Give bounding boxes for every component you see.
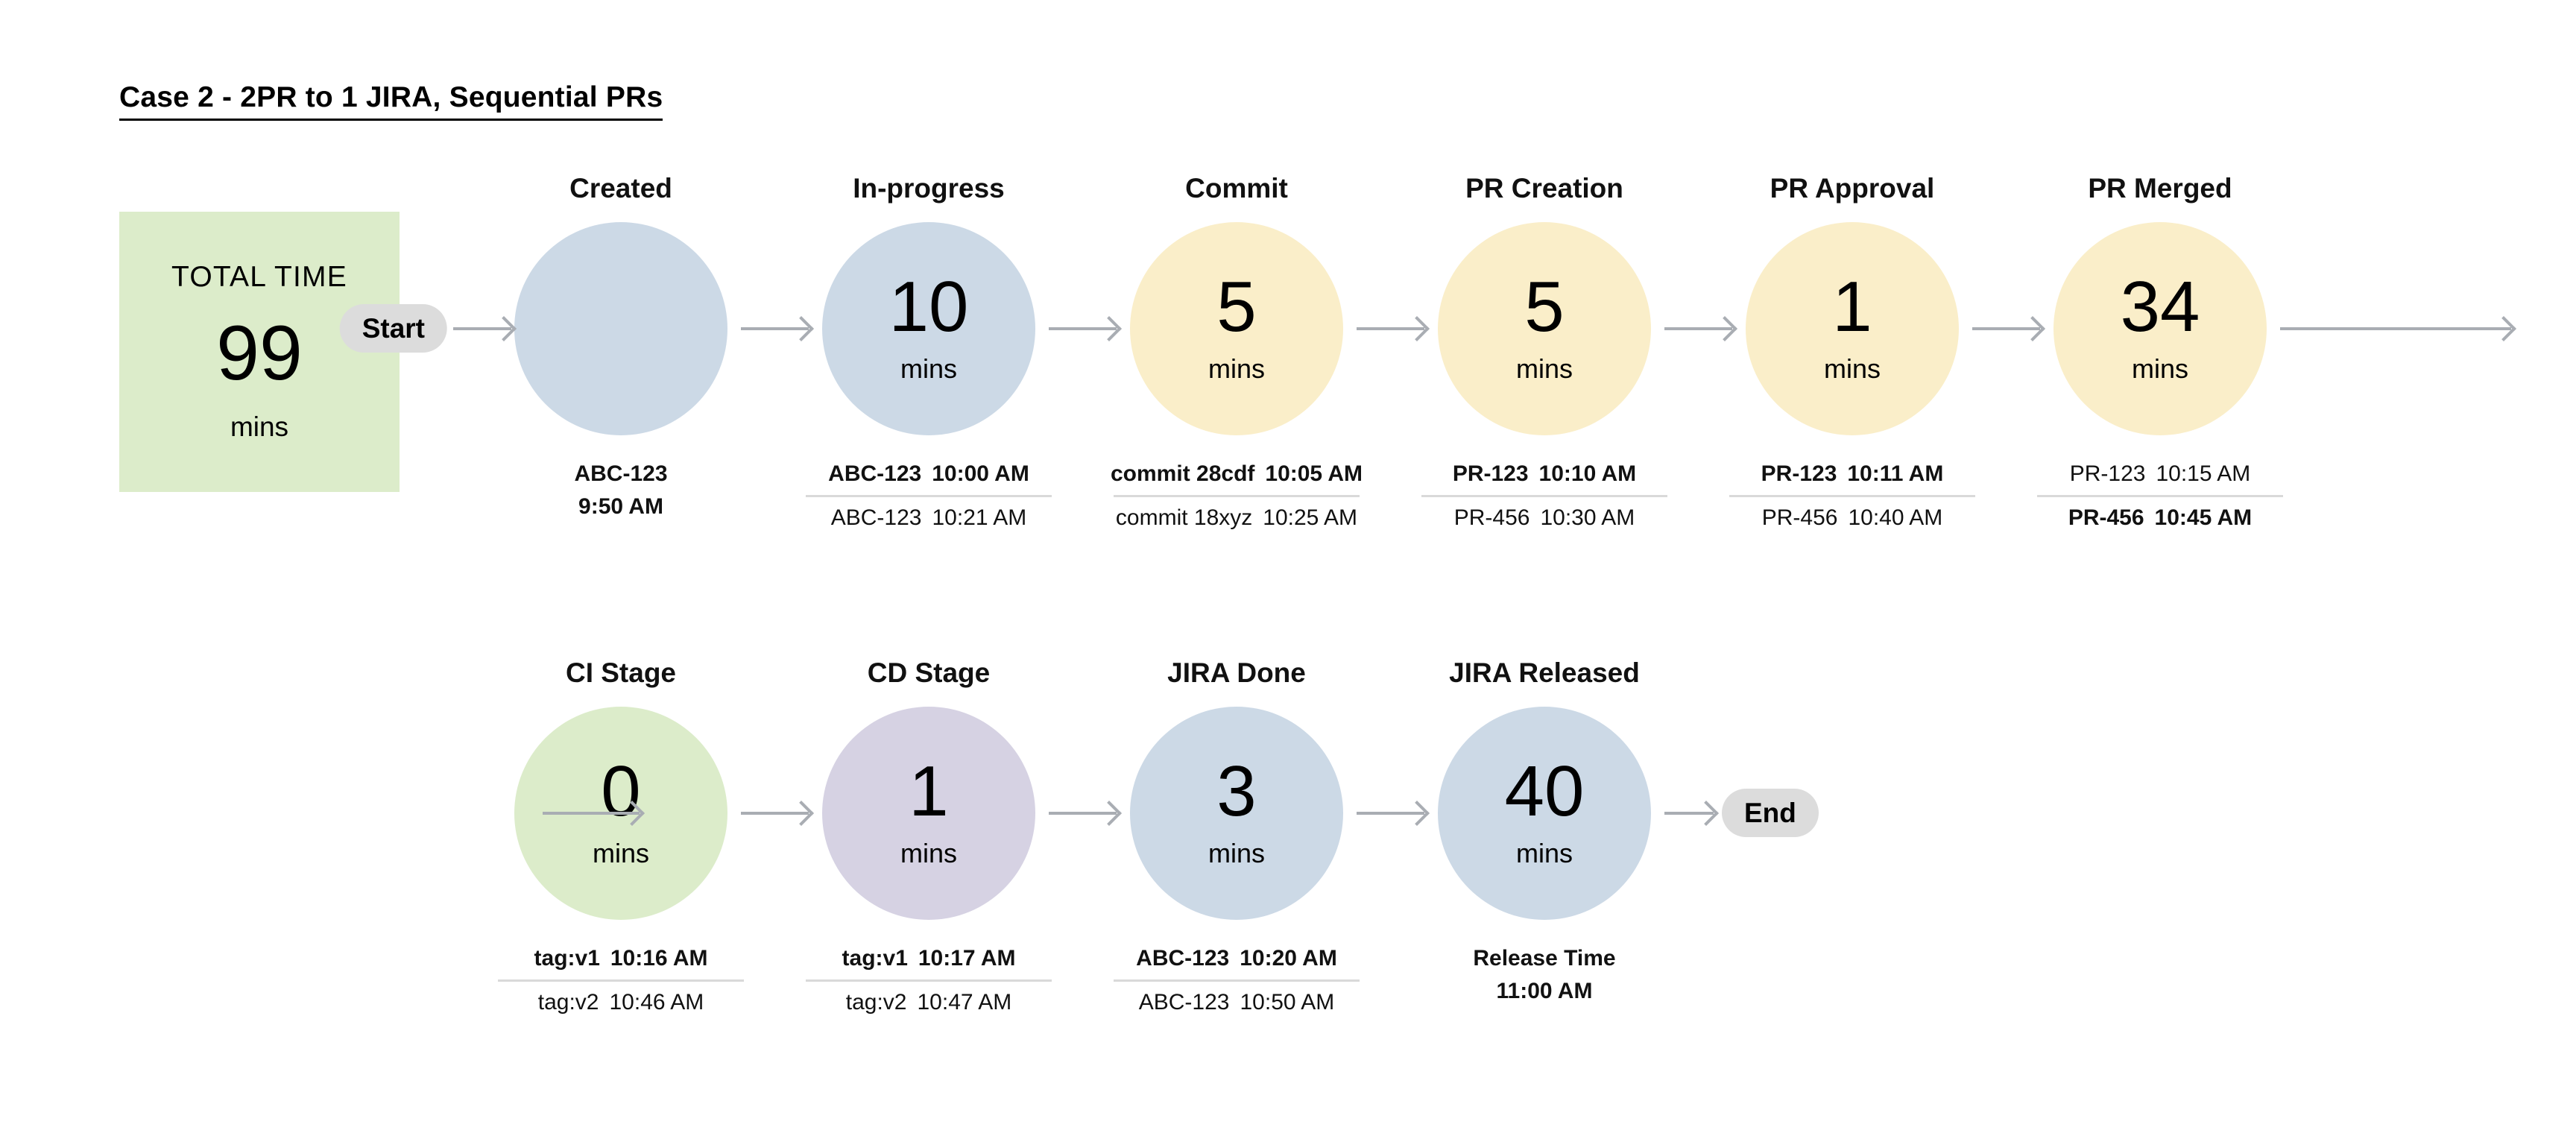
flow-node-label-time: 10:47 AM [917, 986, 1011, 1019]
flow-node-label-ref: 9:50 AM [578, 494, 663, 519]
flow-node[interactable]: CD Stage1minstag:v110:17 AMtag:v210:47 A… [822, 656, 1035, 1019]
flow-node[interactable]: PR Approval1minsPR-12310:11 AMPR-45610:4… [1746, 171, 1959, 534]
flow-node-label-time: 10:20 AM [1240, 942, 1337, 975]
label-divider [2037, 495, 2283, 497]
flow-node-duration-value: 40 [1505, 757, 1585, 825]
connector-arrow [2280, 327, 2511, 330]
flow-node-header: Created [569, 171, 672, 206]
flow-node-label-line: ABC-12310:20 AM [1136, 942, 1337, 975]
connector-arrow [1972, 327, 2040, 330]
connector-arrow [1049, 812, 1117, 815]
flow-node-duration-unit: mins [1208, 838, 1265, 869]
flow-node-label-ref: 11:00 AM [1497, 979, 1593, 1003]
flow-node-label-line: 9:50 AM [578, 490, 663, 523]
flow-node[interactable]: JIRA Done3minsABC-12310:20 AMABC-12310:5… [1130, 656, 1343, 1019]
flow-node[interactable]: PR Merged34minsPR-12310:15 AMPR-45610:45… [2053, 171, 2267, 534]
diagram-canvas: Case 2 - 2PR to 1 JIRA, Sequential PRs T… [0, 0, 2576, 1139]
flow-node-label-ref: ABC-123 [828, 458, 921, 490]
flow-node-header: PR Merged [2088, 171, 2232, 206]
flow-node-bubble[interactable]: 10mins [822, 222, 1035, 435]
flow-node-label-ref: PR-123 [2070, 458, 2146, 490]
flow-node-label-ref: PR-456 [2068, 502, 2144, 534]
flow-node-labels: PR-12310:15 AMPR-45610:45 AM [2037, 458, 2283, 534]
connector-arrow [1357, 327, 1424, 330]
flow-node[interactable]: JIRA Released40minsRelease Time11:00 AM [1438, 656, 1651, 1008]
flow-node-label-line: PR-12310:11 AM [1761, 458, 1944, 490]
connector-arrow [741, 327, 809, 330]
flow-node-header: PR Approval [1770, 171, 1935, 206]
label-divider [498, 979, 744, 982]
flow-node-duration-value: 3 [1216, 757, 1256, 825]
flow-node[interactable]: CI Stage0minstag:v110:16 AMtag:v210:46 A… [514, 656, 727, 1019]
flow-node-label-line: tag:v110:16 AM [534, 942, 708, 975]
flow-node-label-line: ABC-12310:00 AM [828, 458, 1029, 490]
flow-node-duration-unit: mins [1824, 353, 1881, 385]
flow-node-bubble[interactable]: 5mins [1438, 222, 1651, 435]
connector-arrow [1357, 812, 1424, 815]
label-divider [1114, 495, 1360, 497]
flow-node[interactable]: PR Creation5minsPR-12310:10 AMPR-45610:3… [1438, 171, 1651, 534]
flow-node-label-ref: ABC-123 [1136, 942, 1229, 975]
flow-node-label-time: 10:40 AM [1848, 502, 1942, 534]
label-divider [1729, 495, 1975, 497]
flow-node[interactable]: CreatedABC-1239:50 AM [514, 171, 727, 523]
flow-node-label-line: ABC-12310:50 AM [1139, 986, 1335, 1019]
flow-node-labels: ABC-1239:50 AM [498, 458, 744, 523]
flow-node-label-time: 10:45 AM [2155, 502, 2253, 534]
flow-node-duration-unit: mins [593, 838, 649, 869]
page-title: Case 2 - 2PR to 1 JIRA, Sequential PRs [119, 82, 663, 121]
flow-node-label-ref: commit 28cdf [1111, 458, 1254, 490]
flow-node-label-ref: PR-123 [1453, 458, 1529, 490]
flow-node-label-line: ABC-12310:21 AM [831, 502, 1027, 534]
label-divider [1114, 979, 1360, 982]
flow-node-label-time: 10:15 AM [2156, 458, 2250, 490]
flow-node-duration-value: 1 [909, 757, 948, 825]
flow-node-label-time: 10:17 AM [918, 942, 1016, 975]
flow-node-label-time: 10:46 AM [609, 986, 704, 1019]
flow-node-bubble[interactable]: 1mins [1746, 222, 1959, 435]
flow-node-duration-value: 34 [2121, 273, 2200, 341]
flow-node-label-ref: PR-123 [1761, 458, 1837, 490]
flow-node-header: In-progress [853, 171, 1005, 206]
label-divider [806, 495, 1052, 497]
flow-node-label-ref: PR-456 [1454, 502, 1530, 534]
flow-node-header: JIRA Released [1449, 656, 1640, 690]
flow-node-label-line: ABC-123 [574, 458, 667, 490]
flow-node-label-line: PR-12310:10 AM [1453, 458, 1636, 490]
flow-node-label-line: PR-45610:30 AM [1454, 502, 1635, 534]
end-pill[interactable]: End [1722, 789, 1819, 837]
flow-node-labels: tag:v110:17 AMtag:v210:47 AM [806, 942, 1052, 1019]
flow-node-label-line: PR-45610:45 AM [2068, 502, 2252, 534]
flow-node-label-line: tag:v210:46 AM [538, 986, 704, 1019]
flow-node-duration-unit: mins [900, 838, 957, 869]
flow-node-labels: ABC-12310:00 AMABC-12310:21 AM [806, 458, 1052, 534]
flow-node-label-ref: tag:v1 [842, 942, 908, 975]
flow-node-bubble[interactable]: 34mins [2053, 222, 2267, 435]
flow-node-label-line: tag:v110:17 AM [842, 942, 1016, 975]
total-time-unit: mins [230, 411, 288, 443]
flow-node[interactable]: In-progress10minsABC-12310:00 AMABC-1231… [822, 171, 1035, 534]
flow-node-header: JIRA Done [1167, 656, 1306, 690]
total-time-label: TOTAL TIME [171, 261, 347, 294]
flow-node-label-line: Release Time [1473, 942, 1615, 975]
connector-arrow [453, 327, 511, 330]
label-divider [806, 979, 1052, 982]
flow-node-duration-value: 5 [1216, 273, 1256, 341]
connector-arrow [543, 812, 640, 815]
flow-node-header: Commit [1185, 171, 1288, 206]
flow-node-label-time: 10:16 AM [610, 942, 708, 975]
flow-node-label-ref: commit 18xyz [1116, 502, 1252, 534]
flow-node-label-time: 10:00 AM [932, 458, 1029, 490]
flow-node-label-time: 10:50 AM [1240, 986, 1334, 1019]
flow-node-labels: PR-12310:11 AMPR-45610:40 AM [1729, 458, 1975, 534]
flow-node-label-line: commit 28cdf10:05 AM [1111, 458, 1363, 490]
flow-node-label-ref: ABC-123 [574, 461, 667, 486]
label-divider [1421, 495, 1667, 497]
flow-node-label-time: 10:11 AM [1847, 458, 1943, 490]
flow-node-duration-value: 10 [889, 273, 969, 341]
connector-arrow [1664, 812, 1714, 815]
flow-node-header: PR Creation [1465, 171, 1623, 206]
flow-node-label-ref: tag:v1 [534, 942, 600, 975]
flow-node-labels: Release Time11:00 AM [1421, 942, 1667, 1008]
flow-node-label-time: 10:10 AM [1539, 458, 1637, 490]
flow-node-label-ref: tag:v2 [846, 986, 907, 1019]
flow-node-header: CD Stage [868, 656, 990, 690]
flow-node-labels: commit 28cdf10:05 AMcommit 18xyz10:25 AM [1114, 458, 1360, 534]
flow-node-label-time: 10:30 AM [1540, 502, 1635, 534]
flow-node-duration-unit: mins [900, 353, 957, 385]
flow-node-label-line: PR-45610:40 AM [1762, 502, 1942, 534]
flow-node-label-ref: tag:v2 [538, 986, 599, 1019]
flow-node-duration-value: 5 [1524, 273, 1564, 341]
flow-node-label-ref: ABC-123 [831, 502, 922, 534]
flow-node-label-time: 10:05 AM [1265, 458, 1363, 490]
flow-node-label-ref: PR-456 [1762, 502, 1838, 534]
flow-node-label-time: 10:21 AM [932, 502, 1026, 534]
flow-node-label-line: commit 18xyz10:25 AM [1116, 502, 1357, 534]
total-time-value: 99 [216, 313, 303, 394]
flow-node-duration-unit: mins [2132, 353, 2188, 385]
flow-node-duration-unit: mins [1516, 353, 1573, 385]
flow-node-bubble[interactable]: 3mins [1130, 707, 1343, 920]
flow-node-bubble[interactable] [514, 222, 727, 435]
flow-node-bubble[interactable]: 40mins [1438, 707, 1651, 920]
flow-node-label-line: 11:00 AM [1497, 975, 1593, 1008]
flow-node-duration-value: 1 [1832, 273, 1872, 341]
flow-node-bubble[interactable]: 1mins [822, 707, 1035, 920]
flow-node-labels: ABC-12310:20 AMABC-12310:50 AM [1114, 942, 1360, 1019]
connector-arrow [1049, 327, 1117, 330]
flow-node[interactable]: Commit5minscommit 28cdf10:05 AMcommit 18… [1130, 171, 1343, 534]
start-pill[interactable]: Start [340, 304, 447, 353]
flow-node-header: CI Stage [566, 656, 676, 690]
connector-arrow [741, 812, 809, 815]
flow-node-label-ref: ABC-123 [1139, 986, 1230, 1019]
flow-node-labels: tag:v110:16 AMtag:v210:46 AM [498, 942, 744, 1019]
flow-node-bubble[interactable]: 5mins [1130, 222, 1343, 435]
flow-node-labels: PR-12310:10 AMPR-45610:30 AM [1421, 458, 1667, 534]
flow-node-label-time: 10:25 AM [1263, 502, 1357, 534]
flow-node-label-line: tag:v210:47 AM [846, 986, 1012, 1019]
flow-node-duration-unit: mins [1208, 353, 1265, 385]
flow-node-label-line: PR-12310:15 AM [2070, 458, 2250, 490]
flow-node-duration-unit: mins [1516, 838, 1573, 869]
flow-node-label-ref: Release Time [1473, 946, 1615, 971]
connector-arrow [1664, 327, 1732, 330]
